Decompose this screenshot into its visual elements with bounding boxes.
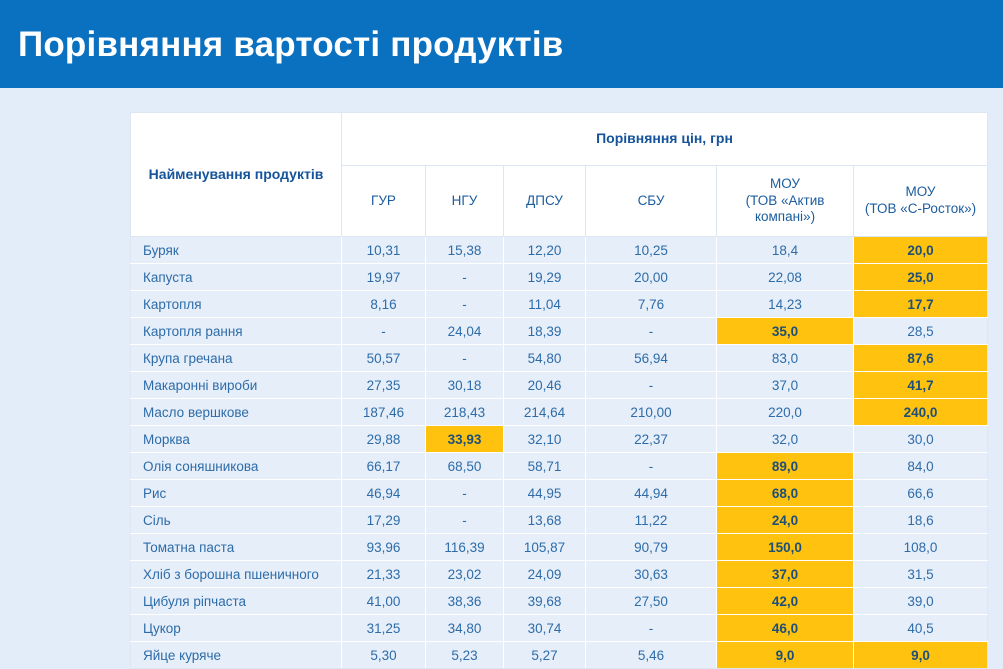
price-cell: 39,68 <box>504 588 586 615</box>
table-row: Крупа гречана50,57-54,8056,9483,087,6 <box>131 345 988 372</box>
column-header-гур: ГУР <box>342 166 426 237</box>
price-cell: 21,33 <box>342 561 426 588</box>
column-header-line: (ТОВ «С-Росток») <box>865 201 976 216</box>
price-cell: 24,09 <box>504 561 586 588</box>
table-row: Макаронні вироби27,3530,1820,46-37,041,7 <box>131 372 988 399</box>
price-cell: 32,10 <box>504 426 586 453</box>
price-cell-highlighted: 41,7 <box>854 372 988 399</box>
product-name-cell: Картопля <box>131 291 342 318</box>
price-cell-highlighted: 150,0 <box>717 534 854 561</box>
product-name-cell: Хліб з борошна пшеничного <box>131 561 342 588</box>
price-cell: 30,18 <box>426 372 504 399</box>
price-cell: 66,6 <box>854 480 988 507</box>
price-cell-highlighted: 68,0 <box>717 480 854 507</box>
price-cell: - <box>586 318 717 345</box>
price-cell: 15,38 <box>426 237 504 264</box>
price-cell: 105,87 <box>504 534 586 561</box>
product-name-cell: Буряк <box>131 237 342 264</box>
price-cell: 68,50 <box>426 453 504 480</box>
price-cell: 17,29 <box>342 507 426 534</box>
price-cell: - <box>342 318 426 345</box>
price-cell: 24,04 <box>426 318 504 345</box>
product-name-cell: Рис <box>131 480 342 507</box>
column-header-нгу: НГУ <box>426 166 504 237</box>
price-cell: 20,46 <box>504 372 586 399</box>
price-cell: 20,00 <box>586 264 717 291</box>
product-name-cell: Макаронні вироби <box>131 372 342 399</box>
product-name-cell: Морква <box>131 426 342 453</box>
table-row: Томатна паста93,96116,39105,8790,79150,0… <box>131 534 988 561</box>
price-cell: 7,76 <box>586 291 717 318</box>
price-cell-highlighted: 24,0 <box>717 507 854 534</box>
price-cell-highlighted: 33,93 <box>426 426 504 453</box>
table-row: Масло вершкове187,46218,43214,64210,0022… <box>131 399 988 426</box>
price-cell-highlighted: 37,0 <box>717 561 854 588</box>
price-cell: - <box>426 480 504 507</box>
price-cell: 27,35 <box>342 372 426 399</box>
price-cell: 58,71 <box>504 453 586 480</box>
price-cell: 18,4 <box>717 237 854 264</box>
table-container: Найменування продуктів Порівняння цін, г… <box>0 88 1003 669</box>
price-cell: 46,94 <box>342 480 426 507</box>
column-header-моу-тов-актив-компані: МОУ(ТОВ «Активкомпані») <box>717 166 854 237</box>
price-cell: 41,00 <box>342 588 426 615</box>
price-cell: 187,46 <box>342 399 426 426</box>
table-row: Картопля рання-24,0418,39-35,028,5 <box>131 318 988 345</box>
table-row: Рис46,94-44,9544,9468,066,6 <box>131 480 988 507</box>
price-cell: 8,16 <box>342 291 426 318</box>
table-row: Капуста19,97-19,2920,0022,0825,0 <box>131 264 988 291</box>
price-cell: 66,17 <box>342 453 426 480</box>
price-cell: 27,50 <box>586 588 717 615</box>
price-cell: - <box>586 615 717 642</box>
price-cell: - <box>586 453 717 480</box>
price-cell: 30,63 <box>586 561 717 588</box>
price-cell: 50,57 <box>342 345 426 372</box>
product-name-cell: Капуста <box>131 264 342 291</box>
price-cell: - <box>426 291 504 318</box>
price-cell: 5,46 <box>586 642 717 669</box>
table-row: Картопля8,16-11,047,7614,2317,7 <box>131 291 988 318</box>
price-cell: 40,5 <box>854 615 988 642</box>
column-header-line: МОУ <box>905 184 935 199</box>
page-header-banner: Порівняння вартості продуктів <box>0 0 1003 88</box>
price-cell: 32,0 <box>717 426 854 453</box>
price-cell: 31,25 <box>342 615 426 642</box>
table-row: Хліб з борошна пшеничного21,3323,0224,09… <box>131 561 988 588</box>
table-body: Буряк10,3115,3812,2010,2518,420,0Капуста… <box>131 237 988 669</box>
column-header-line: компані») <box>755 209 815 224</box>
price-cell: 5,30 <box>342 642 426 669</box>
price-cell: 5,23 <box>426 642 504 669</box>
price-cell: 84,0 <box>854 453 988 480</box>
price-cell: 10,31 <box>342 237 426 264</box>
column-header-line: НГУ <box>452 193 478 208</box>
table-head: Найменування продуктів Порівняння цін, г… <box>131 113 988 237</box>
table-row: Морква29,8833,9332,1022,3732,030,0 <box>131 426 988 453</box>
price-cell: 214,64 <box>504 399 586 426</box>
price-cell-highlighted: 25,0 <box>854 264 988 291</box>
product-name-cell: Яйце куряче <box>131 642 342 669</box>
price-cell: 31,5 <box>854 561 988 588</box>
table-row: Яйце куряче5,305,235,275,469,09,0 <box>131 642 988 669</box>
price-cell: 54,80 <box>504 345 586 372</box>
price-cell-highlighted: 89,0 <box>717 453 854 480</box>
price-cell: 83,0 <box>717 345 854 372</box>
price-cell: 38,36 <box>426 588 504 615</box>
product-name-cell: Масло вершкове <box>131 399 342 426</box>
column-header-product-name: Найменування продуктів <box>131 113 342 237</box>
column-header-line: МОУ <box>770 176 800 191</box>
price-cell: 13,68 <box>504 507 586 534</box>
product-name-cell: Картопля рання <box>131 318 342 345</box>
column-header-line: (ТОВ «Актив <box>746 193 825 208</box>
price-cell: - <box>426 345 504 372</box>
price-cell: - <box>586 372 717 399</box>
price-cell-highlighted: 87,6 <box>854 345 988 372</box>
column-header-line: ДПСУ <box>526 193 563 208</box>
price-cell-highlighted: 42,0 <box>717 588 854 615</box>
product-name-cell: Цукор <box>131 615 342 642</box>
price-cell: 14,23 <box>717 291 854 318</box>
price-cell-highlighted: 240,0 <box>854 399 988 426</box>
price-cell-highlighted: 20,0 <box>854 237 988 264</box>
price-cell-highlighted: 9,0 <box>854 642 988 669</box>
price-cell: 90,79 <box>586 534 717 561</box>
price-cell: 28,5 <box>854 318 988 345</box>
price-cell-highlighted: 35,0 <box>717 318 854 345</box>
price-cell: 11,04 <box>504 291 586 318</box>
price-cell: 10,25 <box>586 237 717 264</box>
product-name-cell: Томатна паста <box>131 534 342 561</box>
price-cell: - <box>426 264 504 291</box>
price-cell: 56,94 <box>586 345 717 372</box>
table-row: Цукор31,2534,8030,74-46,040,5 <box>131 615 988 642</box>
price-cell: 29,88 <box>342 426 426 453</box>
price-cell: 44,94 <box>586 480 717 507</box>
price-cell-highlighted: 17,7 <box>854 291 988 318</box>
price-cell: 23,02 <box>426 561 504 588</box>
table-header-row-top: Найменування продуктів Порівняння цін, г… <box>131 113 988 166</box>
price-cell: 39,0 <box>854 588 988 615</box>
product-name-cell: Сіль <box>131 507 342 534</box>
table-row: Буряк10,3115,3812,2010,2518,420,0 <box>131 237 988 264</box>
price-cell: 19,97 <box>342 264 426 291</box>
price-cell: 22,08 <box>717 264 854 291</box>
column-header-дпсу: ДПСУ <box>504 166 586 237</box>
table-row: Олія соняшникова66,1768,5058,71-89,084,0 <box>131 453 988 480</box>
column-header-моу-тов-с-росток: МОУ(ТОВ «С-Росток») <box>854 166 988 237</box>
price-comparison-table: Найменування продуктів Порівняння цін, г… <box>130 112 988 669</box>
price-cell: 30,74 <box>504 615 586 642</box>
price-cell: 93,96 <box>342 534 426 561</box>
page-title: Порівняння вартості продуктів <box>18 27 563 62</box>
price-cell: 220,0 <box>717 399 854 426</box>
price-cell: 18,6 <box>854 507 988 534</box>
price-cell: 34,80 <box>426 615 504 642</box>
price-cell: 108,0 <box>854 534 988 561</box>
price-cell: 37,0 <box>717 372 854 399</box>
table-row: Цибуля ріпчаста41,0038,3639,6827,5042,03… <box>131 588 988 615</box>
product-name-cell: Крупа гречана <box>131 345 342 372</box>
price-cell-highlighted: 9,0 <box>717 642 854 669</box>
price-cell: 210,00 <box>586 399 717 426</box>
price-cell: - <box>426 507 504 534</box>
price-cell: 19,29 <box>504 264 586 291</box>
price-cell: 44,95 <box>504 480 586 507</box>
column-header-сбу: СБУ <box>586 166 717 237</box>
table-row: Сіль17,29-13,6811,2224,018,6 <box>131 507 988 534</box>
product-name-cell: Цибуля ріпчаста <box>131 588 342 615</box>
price-cell: 30,0 <box>854 426 988 453</box>
price-cell-highlighted: 46,0 <box>717 615 854 642</box>
column-header-line: ГУР <box>371 193 396 208</box>
price-cell: 12,20 <box>504 237 586 264</box>
price-cell: 116,39 <box>426 534 504 561</box>
price-cell: 22,37 <box>586 426 717 453</box>
price-cell: 5,27 <box>504 642 586 669</box>
product-name-cell: Олія соняшникова <box>131 453 342 480</box>
price-cell: 11,22 <box>586 507 717 534</box>
price-cell: 18,39 <box>504 318 586 345</box>
column-group-header-prices: Порівняння цін, грн <box>342 113 988 166</box>
price-cell: 218,43 <box>426 399 504 426</box>
column-header-line: СБУ <box>638 193 665 208</box>
